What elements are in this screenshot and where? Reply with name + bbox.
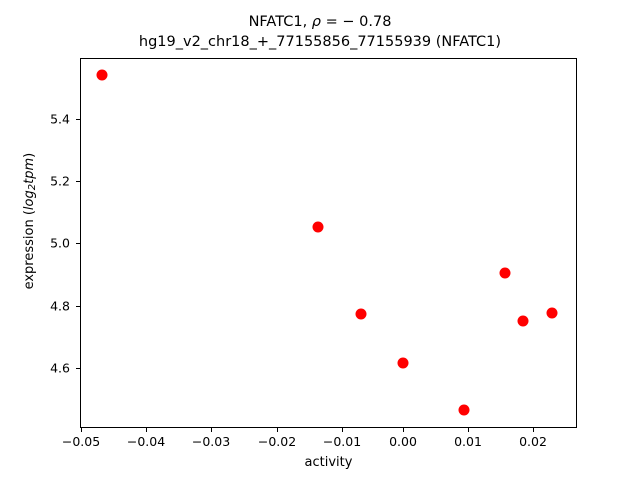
x-tick-mark xyxy=(81,428,82,432)
rho-symbol: ρ xyxy=(312,14,321,30)
data-point xyxy=(518,316,529,327)
data-point xyxy=(313,222,324,233)
data-point xyxy=(356,309,367,320)
x-tick-label-2: −0.03 xyxy=(192,434,230,449)
x-tick-mark xyxy=(533,428,534,432)
y-tick-mark xyxy=(76,368,80,369)
y-tick-mark xyxy=(76,243,80,244)
chart-title: NFATC1, ρ = − 0.78 hg19_v2_chr18_+_77155… xyxy=(0,12,640,52)
y-axis-label-tpm: tpm xyxy=(22,158,37,184)
data-point xyxy=(500,268,511,279)
data-point xyxy=(547,308,558,319)
x-tick-label-6: 0.01 xyxy=(454,434,482,449)
y-axis-label-suffix: ) xyxy=(22,153,37,158)
y-tick-mark xyxy=(76,119,80,120)
x-tick-label-5: 0.00 xyxy=(389,434,417,449)
x-tick-mark xyxy=(468,428,469,432)
data-point xyxy=(97,70,108,81)
x-tick-mark xyxy=(146,428,147,432)
y-axis-label-prefix: expression ( xyxy=(22,210,37,289)
x-tick-mark xyxy=(342,428,343,432)
plot-area xyxy=(80,58,577,428)
data-point xyxy=(459,405,470,416)
x-tick-label-4: −0.01 xyxy=(323,434,361,449)
y-axis-label: expression (log2tpm) xyxy=(22,36,38,406)
x-tick-mark xyxy=(211,428,212,432)
scatter-plot-figure: NFATC1, ρ = − 0.78 hg19_v2_chr18_+_77155… xyxy=(0,0,640,480)
y-tick-mark xyxy=(76,306,80,307)
x-tick-mark xyxy=(403,428,404,432)
y-axis-label-base: 2 xyxy=(27,184,38,190)
y-axis-label-log: log xyxy=(22,190,37,210)
chart-title-line-2: hg19_v2_chr18_+_77155856_77155939 (NFATC… xyxy=(0,32,640,52)
x-tick-label-3: −0.02 xyxy=(258,434,296,449)
data-point xyxy=(398,358,409,369)
chart-title-gene: NFATC1, xyxy=(249,14,308,30)
x-axis-label: activity xyxy=(80,455,577,470)
rho-value: = − 0.78 xyxy=(326,14,392,30)
x-tick-mark xyxy=(277,428,278,432)
y-tick-mark xyxy=(76,181,80,182)
x-tick-label-1: −0.04 xyxy=(127,434,165,449)
x-tick-label-0: −0.05 xyxy=(62,434,100,449)
chart-title-line-1: NFATC1, ρ = − 0.78 xyxy=(0,12,640,32)
x-tick-label-7: 0.02 xyxy=(519,434,547,449)
